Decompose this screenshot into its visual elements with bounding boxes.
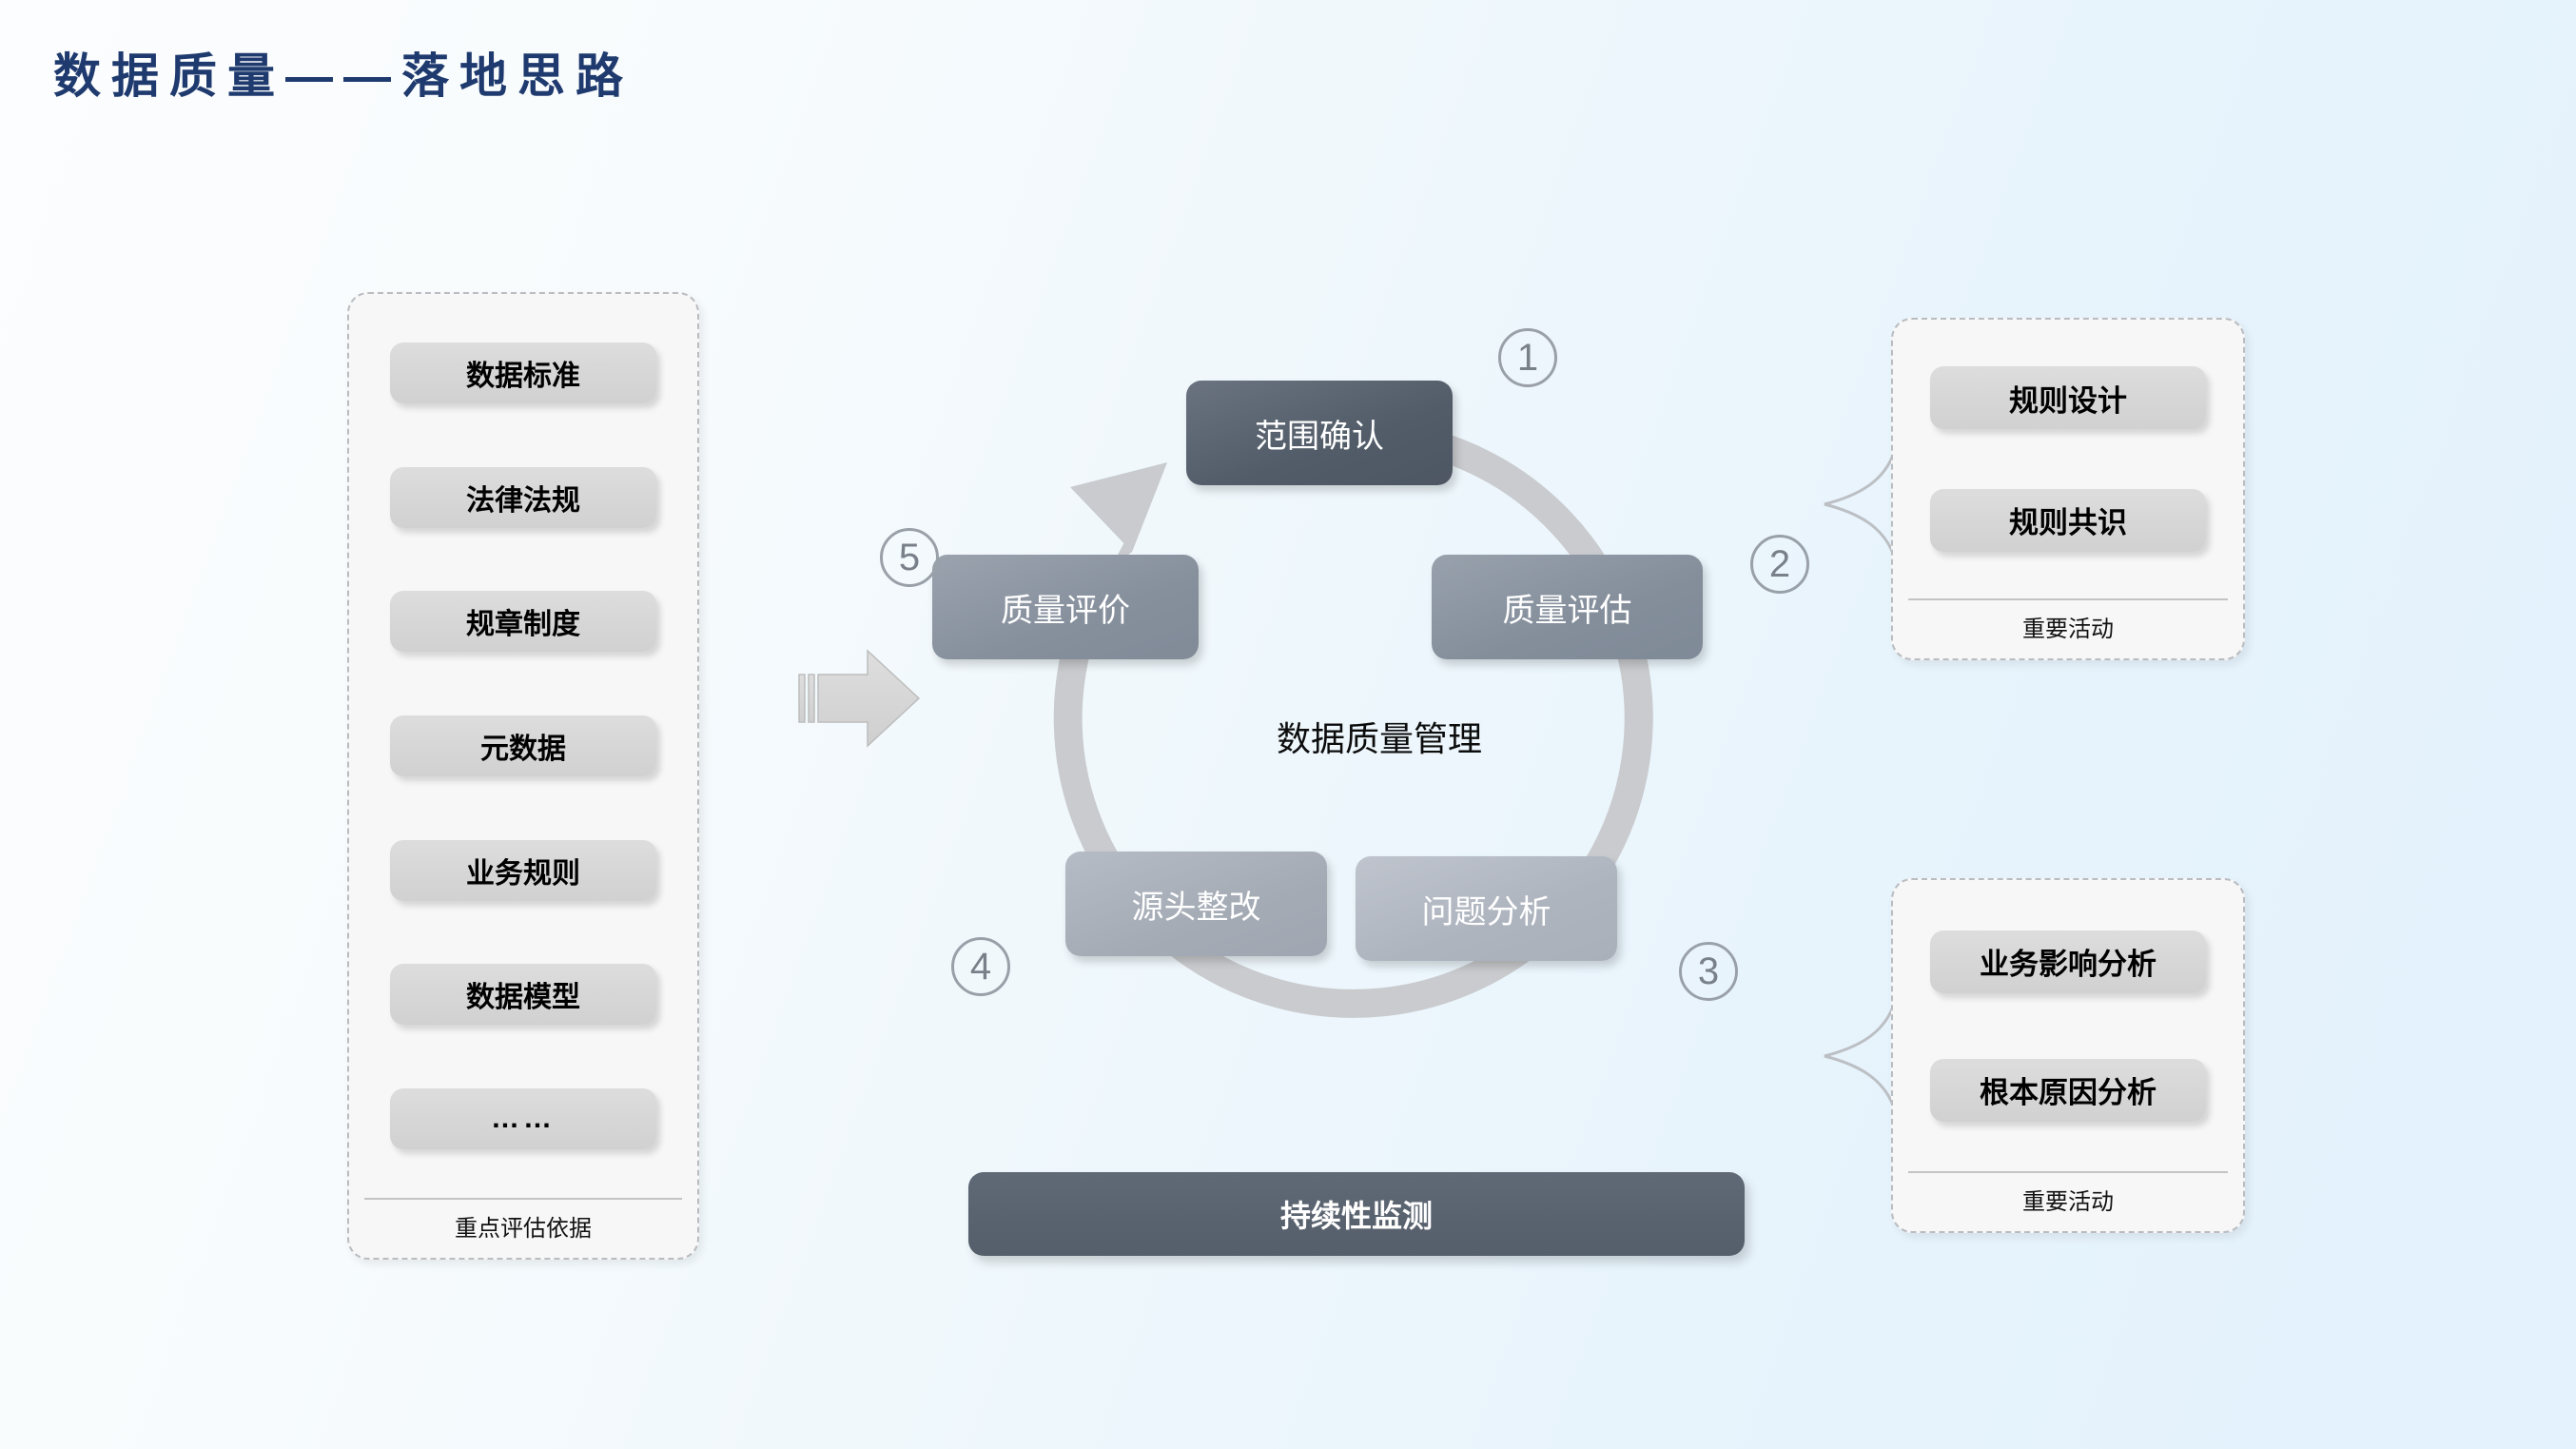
cycle-node-quality-assessment[interactable]: 质量评估 bbox=[1432, 555, 1703, 659]
step-number-3: 3 bbox=[1679, 942, 1738, 1001]
step-number-1: 1 bbox=[1498, 328, 1557, 387]
panel-footer-wrap: 重要活动 bbox=[1893, 598, 2243, 658]
panel-footer-label: 重要活动 bbox=[1908, 600, 2228, 658]
right-arrow-icon bbox=[780, 639, 932, 787]
cycle-node-quality-evaluation[interactable]: 质量评价 bbox=[932, 555, 1199, 659]
key-activities-panel-top: 规则设计 规则共识 重要活动 bbox=[1891, 318, 2245, 660]
cycle-node-problem-analysis[interactable]: 问题分析 bbox=[1356, 856, 1617, 961]
step-number-4: 4 bbox=[951, 937, 1010, 996]
key-activities-list-bottom: 业务影响分析 根本原因分析 bbox=[1893, 880, 2243, 1171]
assessment-basis-panel: 数据标准 法律法规 规章制度 元数据 业务规则 数据模型 …… 重点评估依据 bbox=[347, 292, 699, 1260]
continuous-monitoring-bar[interactable]: 持续性监测 bbox=[968, 1172, 1745, 1256]
panel-footer-label: 重点评估依据 bbox=[364, 1200, 682, 1258]
key-activities-panel-bottom: 业务影响分析 根本原因分析 重要活动 bbox=[1891, 878, 2245, 1233]
step-number-2: 2 bbox=[1750, 535, 1809, 594]
panel-footer-wrap: 重要活动 bbox=[1893, 1171, 2243, 1231]
list-item[interactable]: 规则设计 bbox=[1930, 366, 2206, 429]
list-item[interactable]: 规章制度 bbox=[390, 591, 656, 652]
list-item[interactable]: 法律法规 bbox=[390, 467, 656, 528]
step-number-5: 5 bbox=[880, 528, 939, 587]
list-item[interactable]: 数据模型 bbox=[390, 964, 656, 1025]
page-title: 数据质量——落地思路 bbox=[53, 38, 634, 107]
assessment-basis-list: 数据标准 法律法规 规章制度 元数据 业务规则 数据模型 …… bbox=[349, 294, 697, 1198]
cycle-node-scope-confirm[interactable]: 范围确认 bbox=[1186, 381, 1453, 485]
list-item-ellipsis[interactable]: …… bbox=[390, 1088, 656, 1149]
panel-footer-wrap: 重点评估依据 bbox=[349, 1198, 697, 1258]
cycle-node-source-remediation[interactable]: 源头整改 bbox=[1065, 852, 1327, 956]
list-item[interactable]: 元数据 bbox=[390, 715, 656, 776]
list-item[interactable]: 业务影响分析 bbox=[1930, 930, 2206, 993]
list-item[interactable]: 业务规则 bbox=[390, 840, 656, 901]
cycle-center-label: 数据质量管理 bbox=[927, 712, 1831, 761]
key-activities-list-top: 规则设计 规则共识 bbox=[1893, 320, 2243, 598]
panel-footer-label: 重要活动 bbox=[1908, 1173, 2228, 1231]
list-item[interactable]: 数据标准 bbox=[390, 343, 656, 403]
list-item[interactable]: 规则共识 bbox=[1930, 489, 2206, 552]
list-item[interactable]: 根本原因分析 bbox=[1930, 1059, 2206, 1122]
